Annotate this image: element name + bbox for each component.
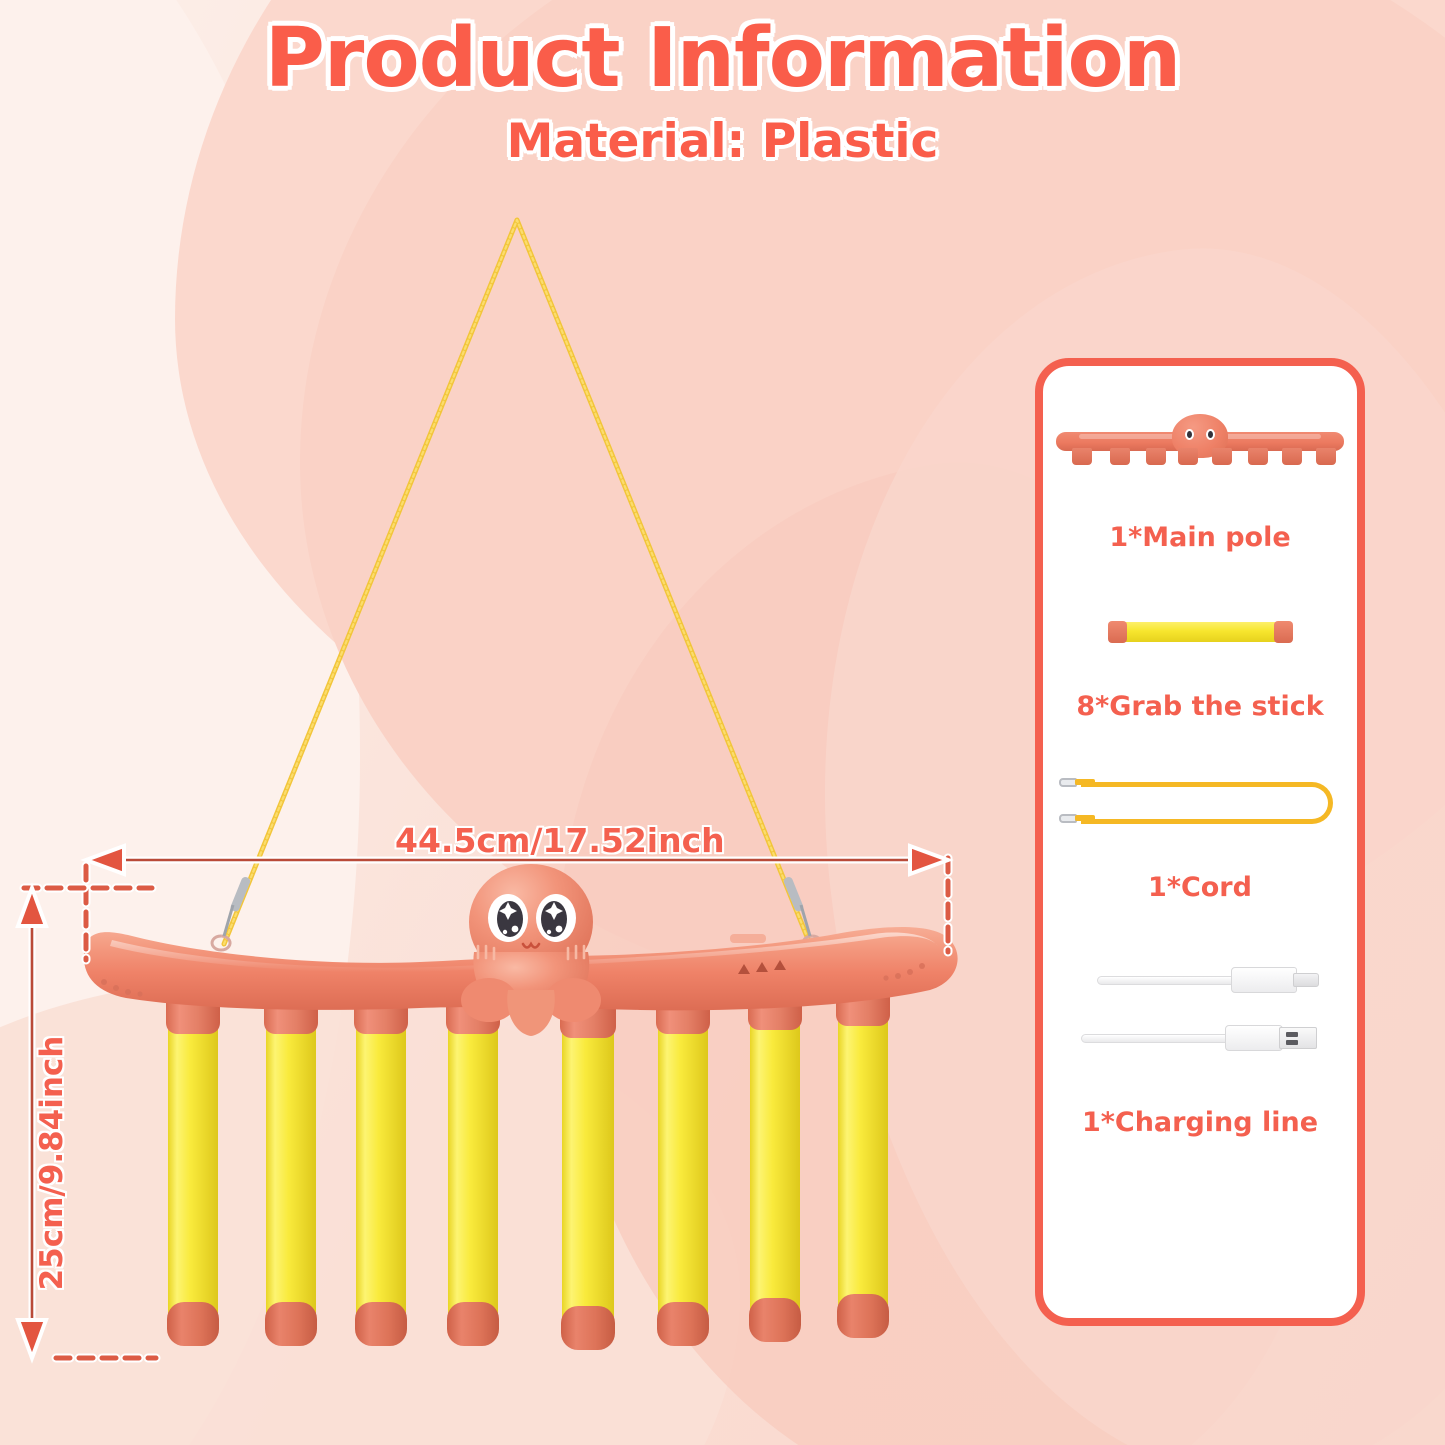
charging-line-icon <box>1075 963 1325 1073</box>
list-item: 1*Charging line <box>1043 963 1357 1136</box>
grab-stick-icon <box>1108 621 1293 643</box>
part-thumbnail <box>1108 621 1293 643</box>
list-item: 1*Cord <box>1043 776 1357 901</box>
octopus-tentacle <box>507 990 555 1036</box>
material-subtitle: Material: Plastic <box>0 118 1445 165</box>
part-label: 1*Main pole <box>1109 524 1290 551</box>
width-dimension-label: 44.5cm/17.52inch <box>395 821 725 860</box>
header-block: Product Information Material: Plastic <box>0 18 1445 165</box>
grab-stick <box>446 986 500 1346</box>
list-item: 8*Grab the stick <box>1043 621 1357 720</box>
octopus-eye-left <box>488 894 528 942</box>
part-thumbnail <box>1050 410 1350 472</box>
page-background: Product Information Material: Plastic <box>0 0 1445 1445</box>
height-dimension-label: 25cm/9.84inch <box>34 1013 70 1313</box>
list-item: 1*Main pole <box>1043 410 1357 551</box>
pole-button <box>730 934 766 943</box>
grab-stick <box>264 986 318 1346</box>
octopus-head-icon <box>461 864 601 1036</box>
main-pole-icon <box>1050 410 1350 472</box>
part-label: 8*Grab the stick <box>1076 693 1323 720</box>
grab-stick <box>656 986 710 1346</box>
grab-stick <box>748 982 802 1342</box>
usb-a-connector-icon <box>1081 1025 1317 1051</box>
page-title: Product Information <box>0 18 1445 100</box>
parts-list-panel: 1*Main pole 8*Grab the stick <box>1035 358 1365 1326</box>
grab-stick <box>354 986 408 1346</box>
part-thumbnail <box>1055 776 1345 830</box>
part-label: 1*Cord <box>1148 874 1252 901</box>
cord-icon <box>1055 776 1345 830</box>
grab-stick <box>166 986 220 1346</box>
octopus-eye-right <box>536 894 576 942</box>
grab-stick <box>836 978 890 1338</box>
part-label: 1*Charging line <box>1082 1109 1318 1136</box>
part-thumbnail <box>1075 963 1325 1073</box>
product-illustration: 44.5cm/17.52inch 25cm/9.84inch <box>0 0 1060 1445</box>
cord-clip-left <box>212 876 251 950</box>
grab-stick <box>560 988 616 1350</box>
micro-usb-connector-icon <box>1097 967 1317 993</box>
